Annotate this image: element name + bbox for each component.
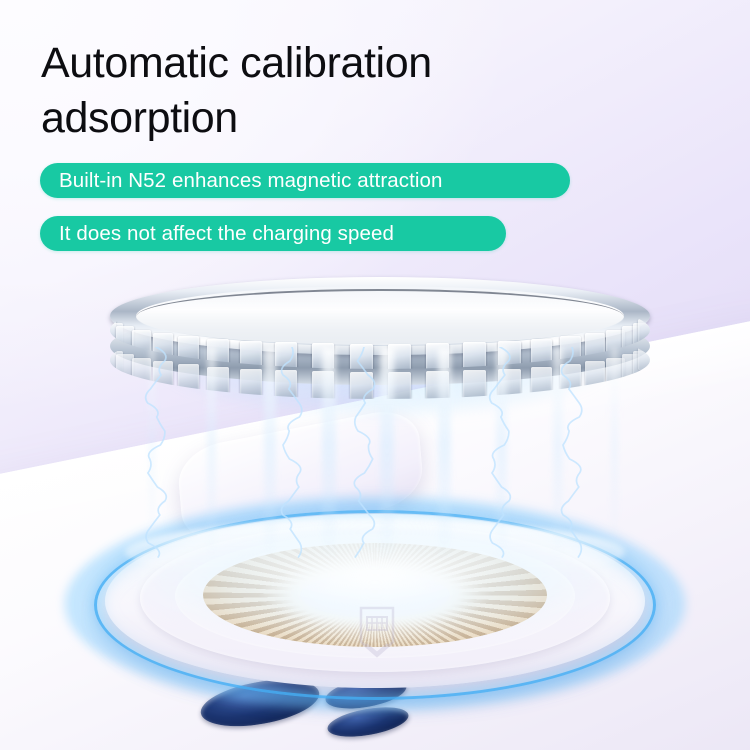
feature-badge-magnetic-label: Built-in N52 enhances magnetic attractio… bbox=[59, 169, 443, 193]
energy-beam bbox=[322, 347, 335, 562]
magnetic-energy-beams bbox=[120, 347, 640, 562]
product-illustration bbox=[0, 252, 750, 750]
feature-badge-charging-speed-label: It does not affect the charging speed bbox=[59, 222, 394, 246]
energy-bolt bbox=[141, 347, 171, 562]
energy-beam bbox=[438, 347, 451, 562]
feature-badge-magnetic: Built-in N52 enhances magnetic attractio… bbox=[40, 163, 570, 198]
energy-bolt bbox=[557, 347, 587, 562]
brand-shield-watermark bbox=[355, 604, 399, 660]
product-marketing-banner: Automatic calibration adsorption Built-i… bbox=[0, 0, 750, 750]
energy-beam bbox=[207, 347, 217, 562]
page-title: Automatic calibration adsorption bbox=[41, 36, 661, 146]
energy-beam bbox=[264, 347, 276, 562]
energy-beam bbox=[380, 347, 394, 562]
magnetic-ring-inner-cut bbox=[136, 289, 624, 345]
magnet-segment bbox=[638, 347, 650, 370]
magnet-segment bbox=[638, 319, 650, 342]
energy-beam bbox=[611, 347, 618, 562]
energy-bolt bbox=[349, 347, 379, 562]
energy-bolt bbox=[485, 347, 515, 562]
energy-bolt bbox=[277, 347, 307, 562]
feature-badge-charging-speed: It does not affect the charging speed bbox=[40, 216, 506, 251]
